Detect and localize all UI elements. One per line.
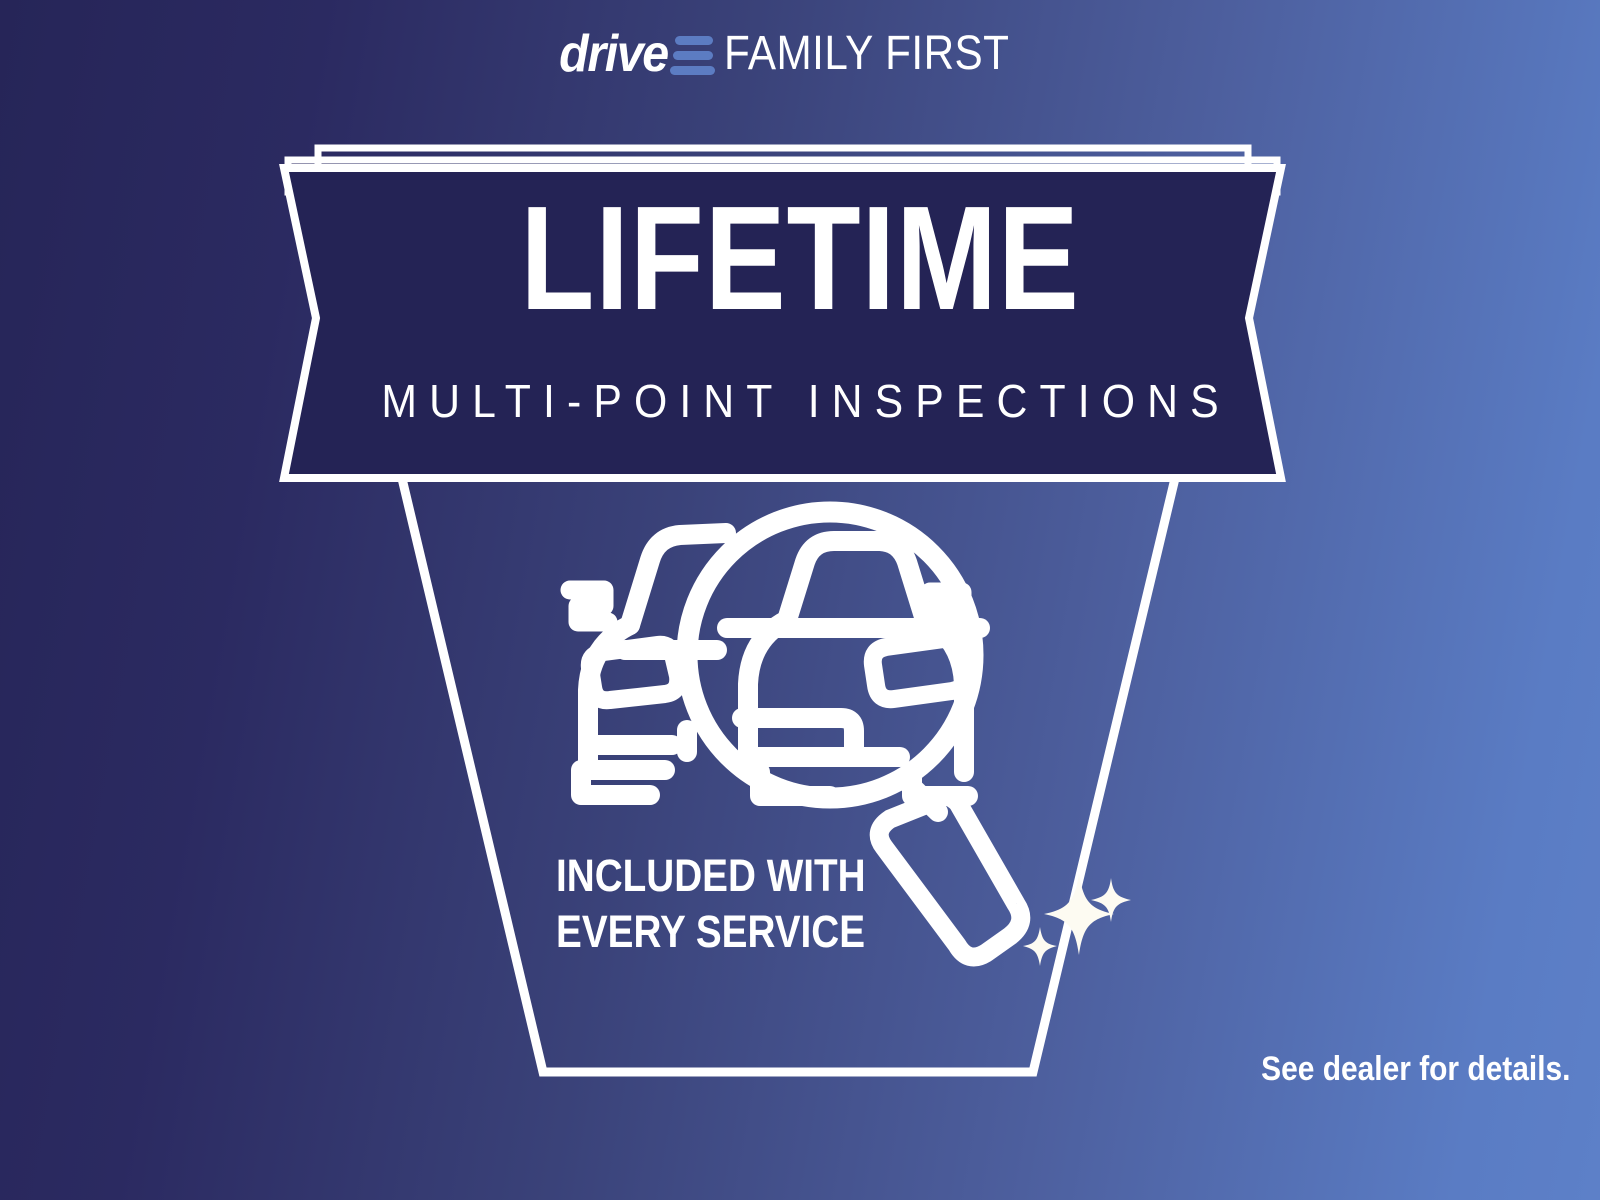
headline-lifetime: LIFETIME <box>144 185 1456 333</box>
sparkles-icon <box>1023 873 1131 966</box>
promo-graphic: drive FAMILY FIRST LIFETIME MULTI-POINT … <box>0 0 1600 1200</box>
magnifier-handle-icon <box>879 780 1021 957</box>
brand-wordmark: drive <box>560 28 669 80</box>
promo-line-1: INCLUDED WITH <box>556 848 866 904</box>
brand-lockup: drive FAMILY FIRST <box>0 28 1600 80</box>
promo-copy: INCLUDED WITH EVERY SERVICE <box>556 848 866 961</box>
brand-tagline: FAMILY FIRST <box>724 30 1009 78</box>
three-bars-icon <box>673 33 715 75</box>
subhead-multipoint-inspections: MULTI-POINT INSPECTIONS <box>56 378 1544 424</box>
promo-line-2: EVERY SERVICE <box>556 904 866 960</box>
disclaimer-text: See dealer for details. <box>1261 1052 1570 1086</box>
